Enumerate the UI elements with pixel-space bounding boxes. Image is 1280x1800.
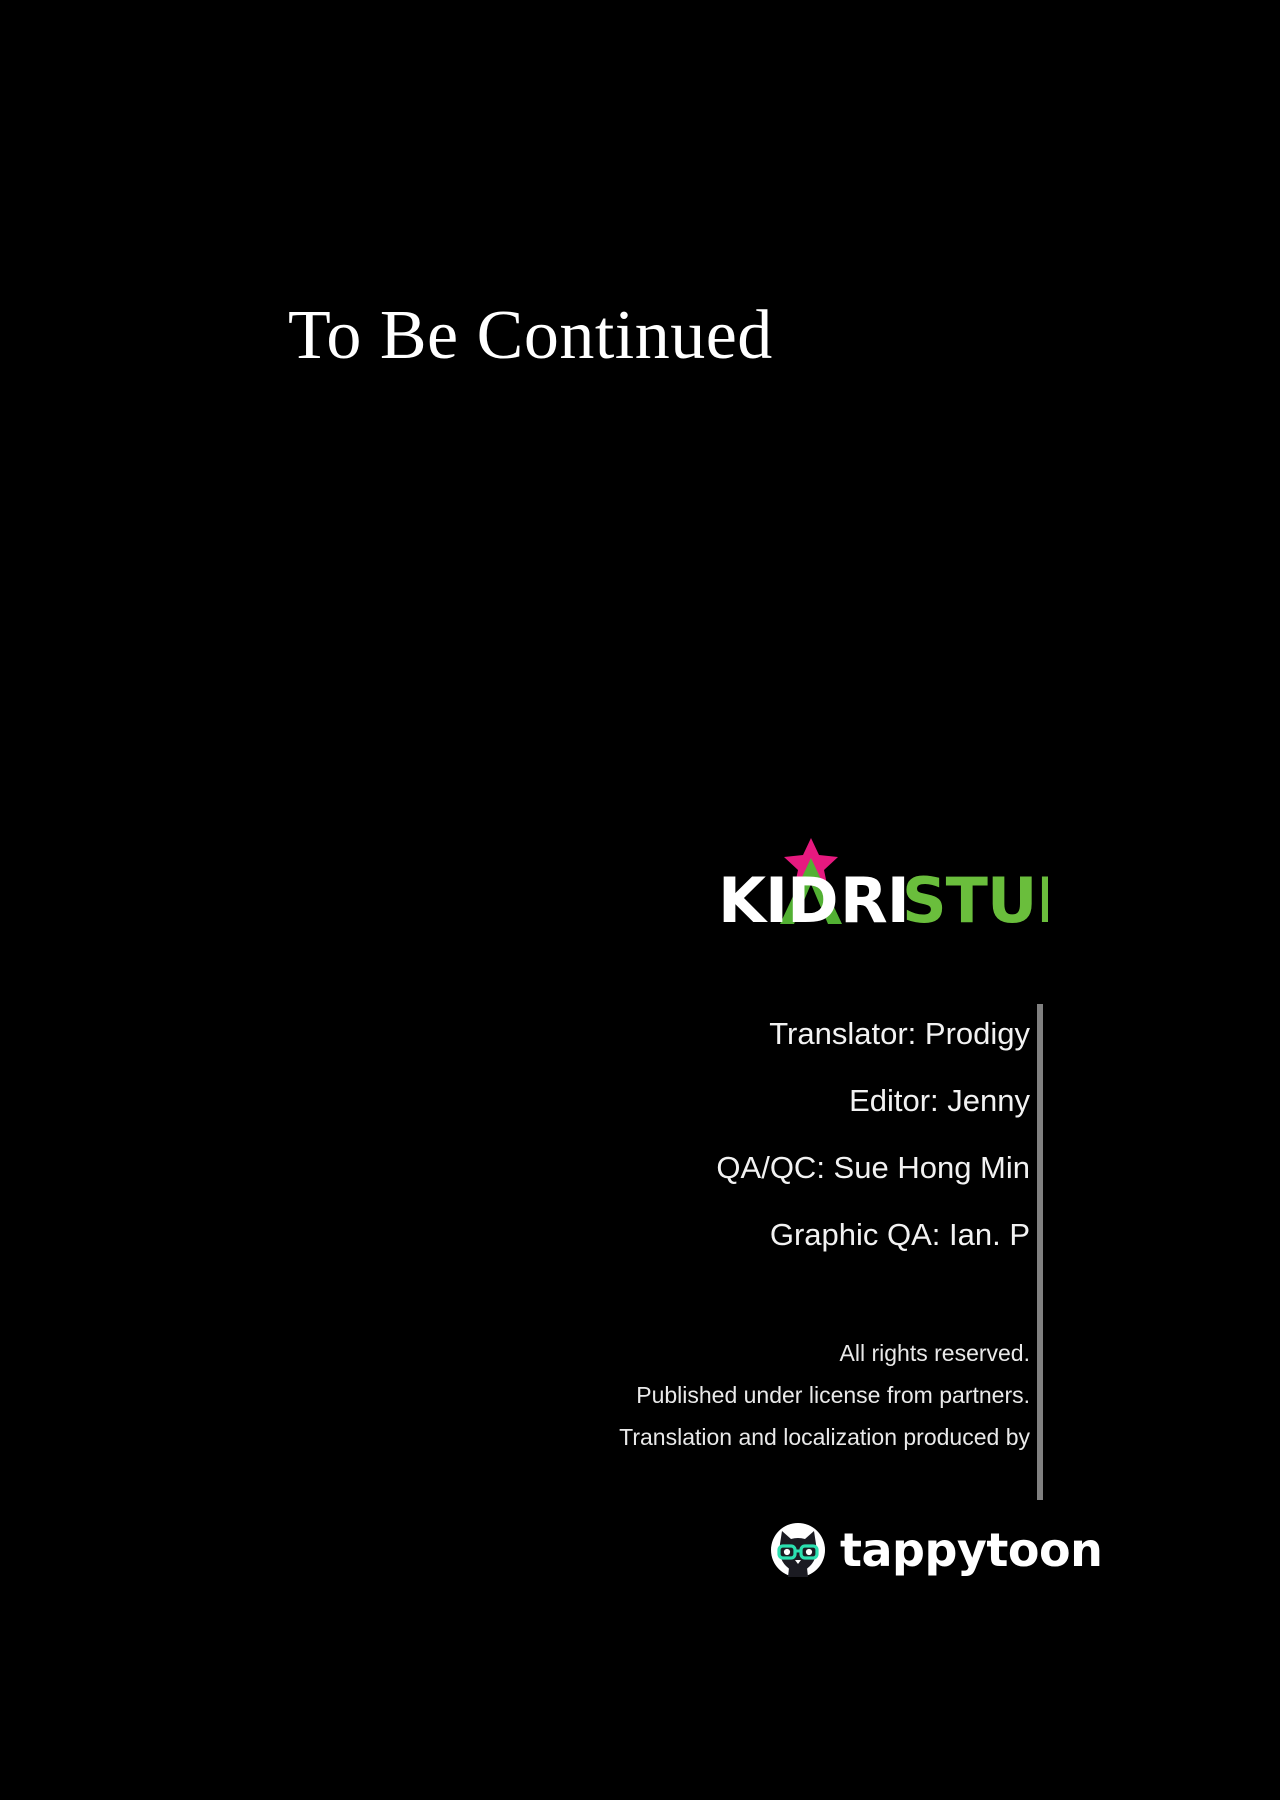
end-card-page: To Be Continued KID RI STUDIO Translator…	[0, 0, 1280, 1800]
page-title: To Be Continued	[288, 296, 773, 376]
rights-line-license: Published under license from partners.	[440, 1374, 1030, 1416]
tappytoon-logo: tappytoon	[770, 1512, 1035, 1588]
tappytoon-cat-icon-svg	[770, 1522, 826, 1578]
rights-line-produced-by: Translation and localization produced by	[440, 1416, 1030, 1458]
kidari-word-ri: RI	[840, 864, 909, 928]
credit-translator: Translator: Prodigy	[520, 1000, 1030, 1067]
vertical-divider	[1037, 1004, 1043, 1500]
kidari-word-studio: STUDIO	[902, 864, 1048, 928]
rights-block: All rights reserved. Published under lic…	[440, 1332, 1030, 1458]
credit-graphic-qa: Graphic QA: Ian. P	[520, 1201, 1030, 1268]
rights-line-all-rights: All rights reserved.	[440, 1332, 1030, 1374]
credit-qa-qc: QA/QC: Sue Hong Min	[520, 1134, 1030, 1201]
kidari-word-kid: KID	[718, 864, 838, 928]
credit-editor: Editor: Jenny	[520, 1067, 1030, 1134]
kidari-studio-logo-svg: KID RI STUDIO	[718, 836, 1048, 928]
tappytoon-cat-icon	[770, 1522, 826, 1578]
credits-block: Translator: Prodigy Editor: Jenny QA/QC:…	[520, 1000, 1030, 1268]
tappytoon-wordmark: tappytoon	[840, 1522, 1102, 1578]
kidari-studio-logo: KID RI STUDIO	[718, 836, 1048, 928]
